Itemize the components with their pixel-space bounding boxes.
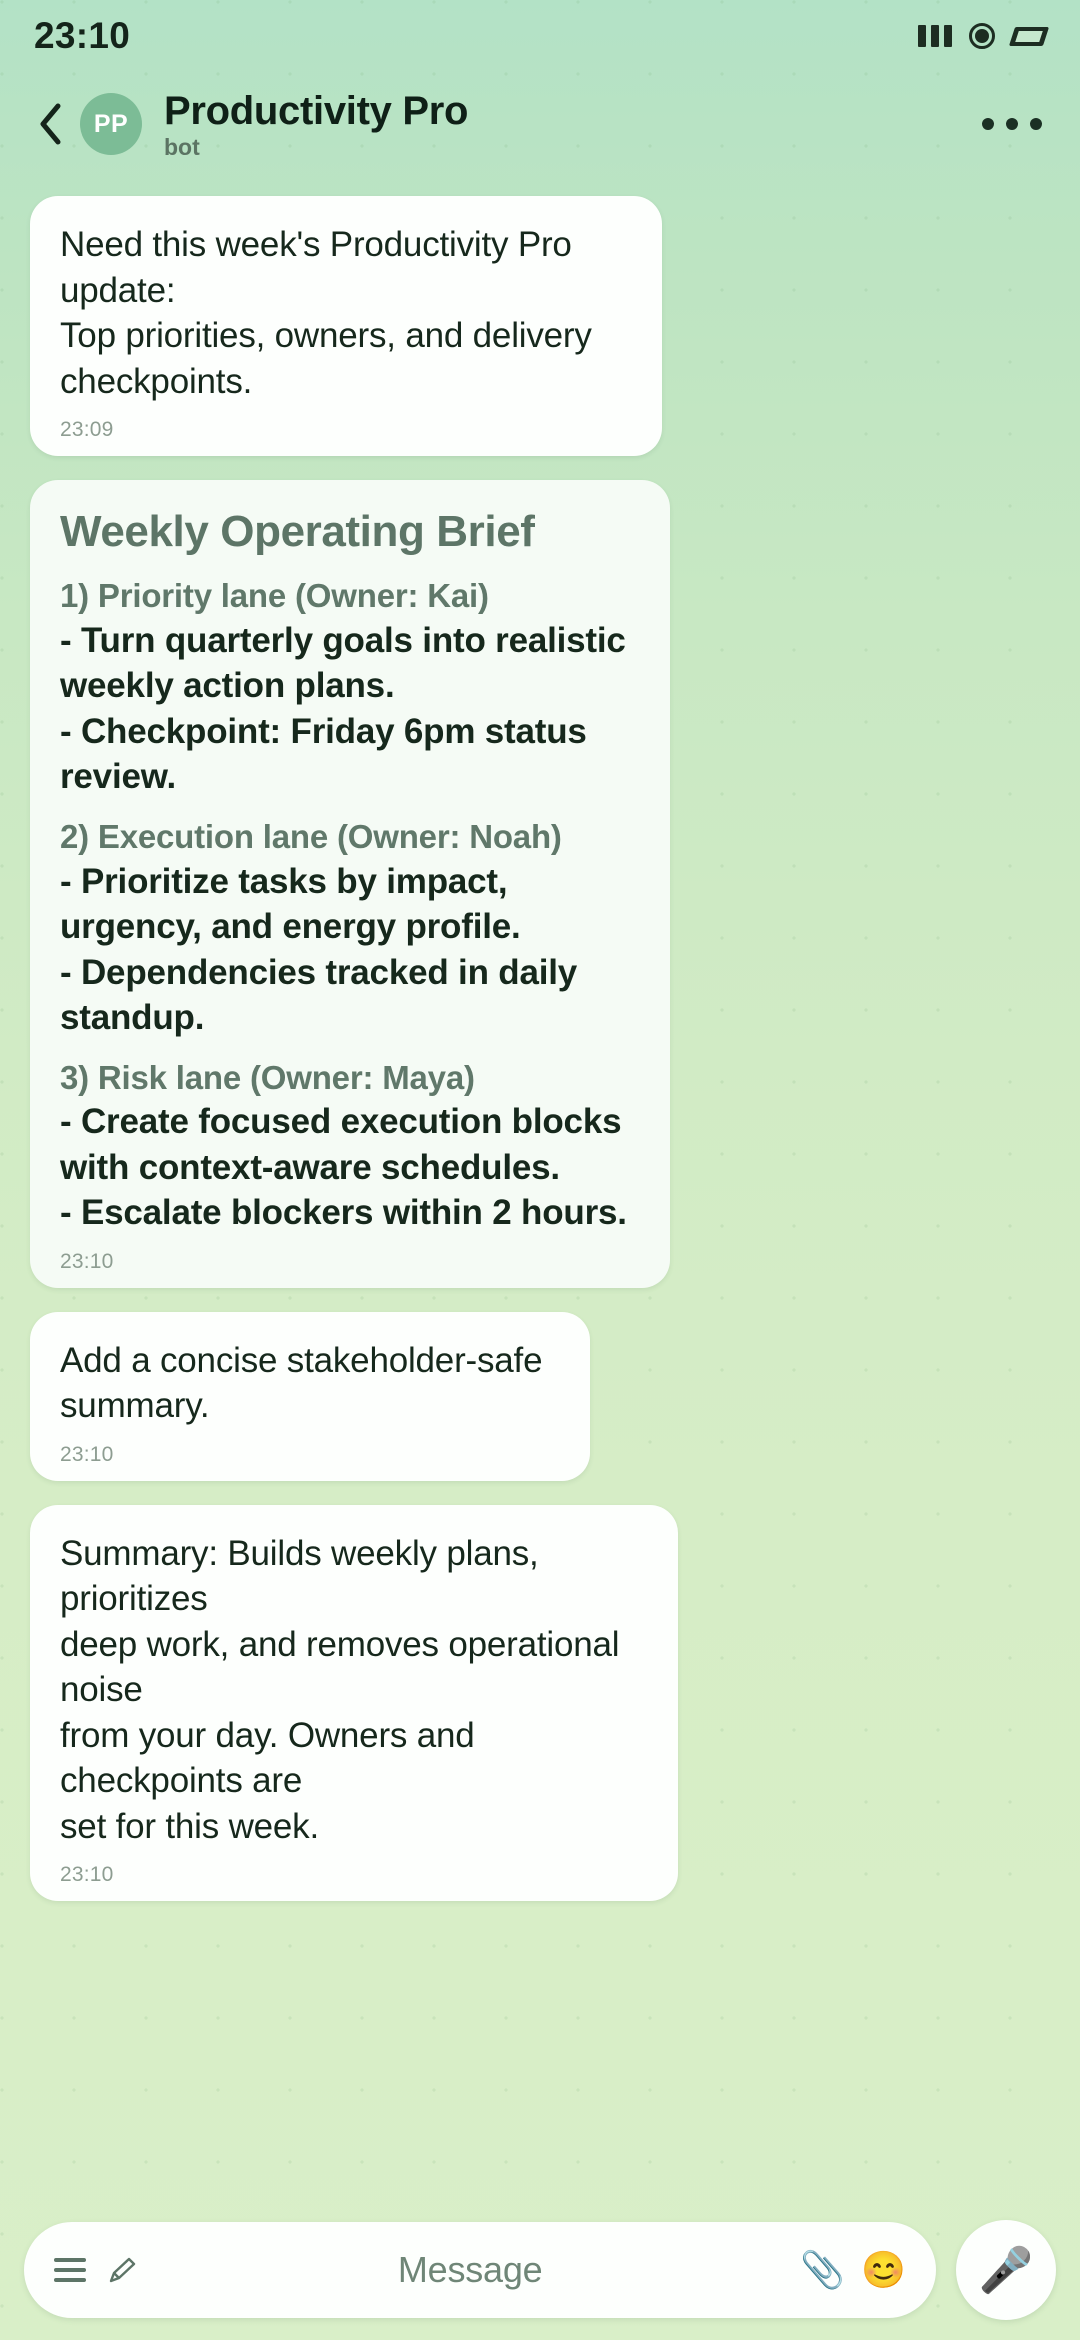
message-line: Add a concise stakeholder-safe summary.: [60, 1338, 560, 1429]
pencil-icon[interactable]: [104, 2252, 140, 2288]
section-bullet: - Prioritize tasks by impact, urgency, a…: [60, 859, 640, 950]
message-line: deep work, and removes operational noise: [60, 1622, 648, 1713]
emoji-icon[interactable]: 😊: [861, 2252, 906, 2288]
message-line: Need this week's Productivity Pro update…: [60, 222, 632, 313]
message-line: set for this week.: [60, 1804, 648, 1850]
hamburger-menu-icon[interactable]: [54, 2258, 86, 2282]
message-bubble-user[interactable]: Summary: Builds weekly plans, prioritize…: [30, 1505, 678, 1902]
message-input-container[interactable]: Message 📎 😊: [24, 2222, 936, 2318]
message-line: from your day. Owners and checkpoints ar…: [60, 1713, 648, 1804]
header-subtitle: bot: [164, 136, 972, 159]
signal-bars-icon: [918, 25, 952, 47]
section-bullet: - Dependencies tracked in daily standup.: [60, 950, 640, 1041]
section-bullet: - Turn quarterly goals into realistic we…: [60, 618, 640, 709]
message-timestamp: 23:10: [60, 1443, 560, 1467]
attachment-icon[interactable]: 📎: [800, 2252, 845, 2288]
section-bullet: - Create focused execution blocks with c…: [60, 1099, 640, 1190]
header-text-block[interactable]: Productivity Pro bot: [164, 90, 972, 159]
status-bar: 23:10: [0, 0, 1080, 72]
battery-icon: [1009, 27, 1049, 46]
brief-title: Weekly Operating Brief: [60, 506, 640, 559]
back-chevron-icon[interactable]: [28, 96, 72, 152]
message-input[interactable]: Message: [140, 2249, 800, 2291]
composer-left-icons: [54, 2252, 140, 2288]
message-timestamp: 23:09: [60, 418, 632, 442]
message-line: Summary: Builds weekly plans, prioritize…: [60, 1531, 648, 1622]
avatar-initials: PP: [94, 110, 128, 139]
composer-right-icons: 📎 😊: [800, 2252, 906, 2288]
message-timestamp: 23:10: [60, 1863, 648, 1887]
section-heading: 3) Risk lane (Owner: Maya): [60, 1057, 640, 1100]
section-bullet: - Escalate blockers within 2 hours.: [60, 1190, 640, 1236]
section-heading: 1) Priority lane (Owner: Kai): [60, 575, 640, 618]
composer-bar: Message 📎 😊 🎤: [0, 2200, 1080, 2340]
section-heading: 2) Execution lane (Owner: Noah): [60, 816, 640, 859]
message-timestamp: 23:10: [60, 1250, 640, 1274]
chat-header: PP Productivity Pro bot: [0, 78, 1080, 170]
microphone-button[interactable]: 🎤: [956, 2220, 1056, 2320]
microphone-icon: 🎤: [979, 2244, 1034, 2296]
page-title: Productivity Pro: [164, 90, 972, 132]
message-line: Top priorities, owners, and delivery che…: [60, 313, 632, 404]
more-options-icon[interactable]: [972, 104, 1052, 144]
wifi-dot-icon: [969, 23, 995, 49]
message-bubble-user[interactable]: Add a concise stakeholder-safe summary. …: [30, 1312, 590, 1481]
status-time: 23:10: [34, 15, 130, 57]
section-bullet: - Checkpoint: Friday 6pm status review.: [60, 709, 640, 800]
avatar[interactable]: PP: [80, 93, 142, 155]
message-bubble-user[interactable]: Need this week's Productivity Pro update…: [30, 196, 662, 456]
message-list: Need this week's Productivity Pro update…: [0, 196, 1080, 1925]
status-icons: [918, 23, 1046, 49]
message-bubble-bot[interactable]: Weekly Operating Brief 1) Priority lane …: [30, 480, 670, 1288]
